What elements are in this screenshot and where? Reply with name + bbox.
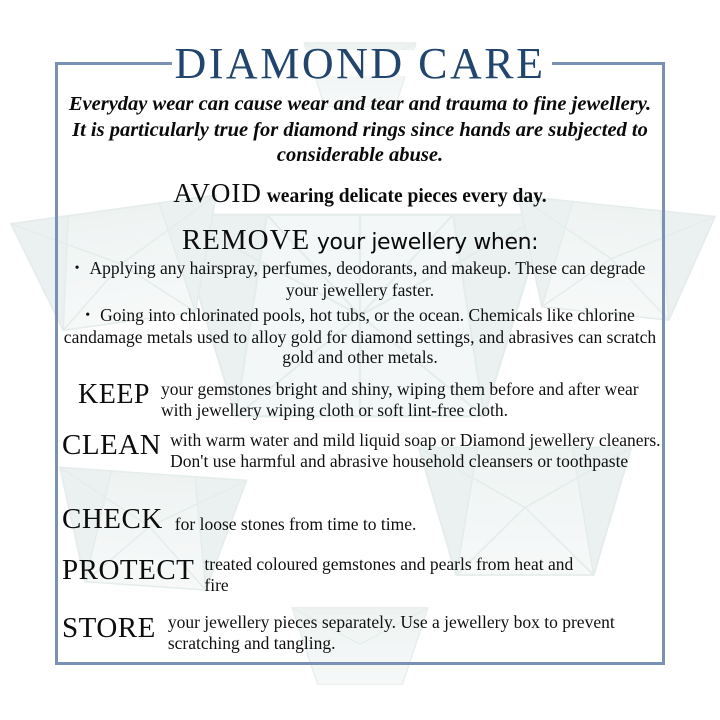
tip-text: your gemstones bright and shiny, wiping … (150, 379, 661, 420)
tip-keyword: CLEAN (62, 430, 161, 460)
tip-keyword: KEEP (78, 379, 150, 409)
tip-keyword: STORE (62, 612, 156, 643)
bullet-text: Going into chlorinated pools, hot tubs, … (64, 305, 656, 367)
tip-keyword: CHECK (62, 505, 163, 534)
tip-text: with warm water and mild liquid soap or … (161, 430, 665, 471)
tip-text: for loose stones from time to time. (163, 505, 555, 535)
avoid-text: wearing delicate pieces every day. (262, 186, 547, 207)
remove-line: REMOVE your jewellery when: (60, 224, 660, 257)
avoid-keyword: AVOID (173, 178, 262, 208)
tip-keyword: PROTECT (62, 554, 194, 585)
remove-text: your jewellery when: (310, 230, 538, 255)
remove-keyword: REMOVE (182, 224, 310, 256)
tip-row-store: STORE your jewellery pieces separately. … (62, 612, 628, 653)
bullet-icon: • (75, 261, 90, 276)
page-title: DIAMOND CARE (0, 41, 720, 87)
tip-text: your jewellery pieces separately. Use a … (156, 612, 628, 653)
tip-row-protect: PROTECT treated coloured gemstones and p… (62, 554, 584, 595)
bullet-text: Applying any hairspray, perfumes, deodor… (89, 258, 645, 300)
avoid-line: AVOID wearing delicate pieces every day. (60, 178, 660, 209)
diamond-care-poster: DIAMOND CARE Everyday wear can cause wea… (0, 0, 720, 720)
list-item: •Applying any hairspray, perfumes, deodo… (60, 258, 660, 300)
tip-row-check: CHECK for loose stones from time to time… (62, 505, 555, 535)
bullet-icon: • (85, 308, 100, 323)
tip-text: treated coloured gemstones and pearls fr… (194, 554, 584, 595)
list-item: •Going into chlorinated pools, hot tubs,… (60, 305, 660, 368)
tip-row-keep: KEEP your gemstones bright and shiny, wi… (78, 379, 661, 420)
intro-paragraph: Everyday wear can cause wear and tear an… (62, 92, 658, 169)
tip-row-clean: CLEAN with warm water and mild liquid so… (62, 430, 665, 471)
